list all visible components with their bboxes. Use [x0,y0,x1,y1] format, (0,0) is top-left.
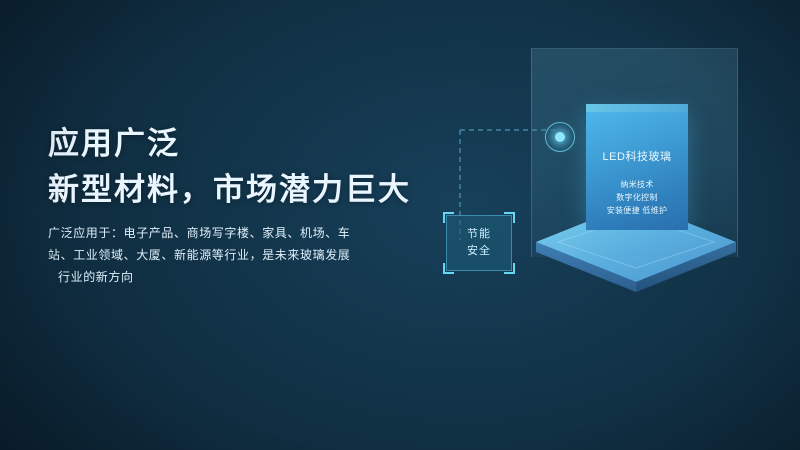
tag-corner-bottom-right-icon [504,263,515,274]
feature-tag-line-2: 安全 [467,243,491,260]
body-line-2: 站、工业领域、大厦、新能源等行业，是未来玻璃发展 [48,244,378,266]
body-paragraph: 广泛应用于：电子产品、商场写字楼、家具、机场、车 站、工业领域、大厦、新能源等行… [48,222,378,288]
tag-corner-top-left-icon [443,212,454,223]
tag-corner-top-right-icon [504,212,515,223]
node-dot-icon [545,122,575,152]
page-title-line-2: 新型材料，市场潜力巨大 [48,164,411,209]
body-line-3: 行业的新方向 [48,266,378,288]
feature-tag-line-1: 节能 [467,226,491,243]
tag-corner-bottom-left-icon [443,263,454,274]
page-title-line-1: 应用广泛 [48,118,180,163]
slide-canvas: LED科技玻璃 纳米技术 数字化控制 安装便捷 低维护 节能 安全 应用广泛 新… [0,0,800,450]
body-line-1: 广泛应用于：电子产品、商场写字楼、家具、机场、车 [48,222,378,244]
feature-tag-inner: 节能 安全 [446,215,512,271]
node-dot-core [555,132,565,142]
feature-tag-box[interactable]: 节能 安全 [446,215,512,271]
